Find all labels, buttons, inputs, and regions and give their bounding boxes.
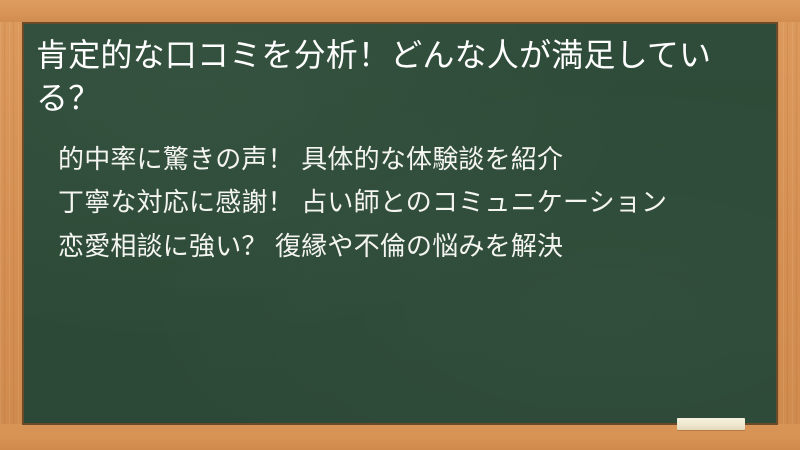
chalk-stick-icon bbox=[677, 418, 745, 430]
list-item: 恋愛相談に強い？ 復縁や不倫の悩みを解決 bbox=[58, 229, 732, 265]
chalkboard-surface: 肯定的な口コミを分析！どんな人が満足している？ 的中率に驚きの声！ 具体的な体験… bbox=[22, 22, 778, 425]
list-item: 丁寧な対応に感謝！ 占い師とのコミュニケーション bbox=[58, 185, 732, 221]
headline-list: 的中率に驚きの声！ 具体的な体験談を紹介 丁寧な対応に感謝！ 占い師とのコミュニ… bbox=[36, 142, 750, 265]
chalkboard-content: 肯定的な口コミを分析！どんな人が満足している？ 的中率に驚きの声！ 具体的な体験… bbox=[24, 24, 776, 423]
frame-rail-top bbox=[0, 0, 800, 22]
list-item: 的中率に驚きの声！ 具体的な体験談を紹介 bbox=[58, 142, 732, 178]
slide-title: 肯定的な口コミを分析！どんな人が満足している？ bbox=[36, 34, 750, 120]
blackboard-slide: 肯定的な口コミを分析！どんな人が満足している？ 的中率に驚きの声！ 具体的な体験… bbox=[0, 0, 800, 450]
